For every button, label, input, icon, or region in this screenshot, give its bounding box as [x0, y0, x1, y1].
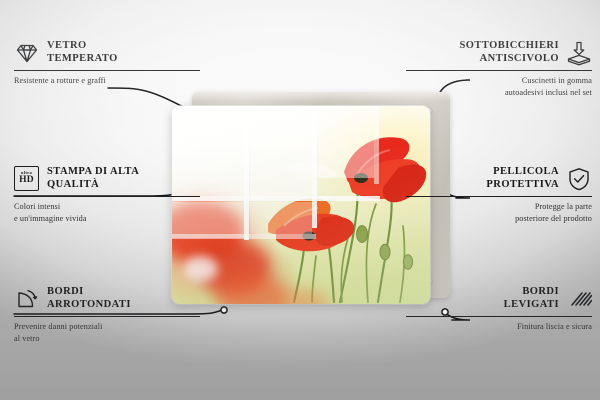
- glass-gloss: [172, 106, 430, 304]
- infographic-canvas: VETRO TEMPERATO Resistente a rotture e g…: [0, 0, 600, 400]
- anti-slip-pads-icon: [566, 40, 592, 66]
- ultra-hd-badge-icon: ultra HD: [14, 166, 40, 192]
- rounded-corner-icon: [14, 286, 40, 312]
- shield-check-icon: [566, 166, 592, 192]
- divider: [14, 70, 200, 71]
- feature-bordi-levigati: BORDI LEVIGATI Finitura liscia e sicura: [406, 286, 592, 333]
- feature-subtitle: Cuscinetti in gomma autoadesivi inclusi …: [406, 75, 592, 98]
- feature-subtitle: Finitura liscia e sicura: [406, 321, 592, 333]
- feature-sottobicchieri-antiscivolo: SOTTOBICCHIERI ANTISCIVOLO Cuscinetti in…: [406, 40, 592, 98]
- feature-vetro-temperato: VETRO TEMPERATO Resistente a rotture e g…: [14, 40, 200, 87]
- feature-title: BORDI ARROTONDATI: [47, 286, 131, 312]
- feature-bordi-arrotondati: BORDI ARROTONDATI Prevenire danni potenz…: [14, 286, 200, 344]
- divider: [406, 316, 592, 317]
- feature-title: PELLICOLA PROTETTIVA: [486, 166, 559, 192]
- divider: [406, 196, 592, 197]
- feature-title: STAMPA DI ALTA QUALITÀ: [47, 166, 139, 192]
- feature-title: BORDI LEVIGATI: [504, 286, 559, 312]
- feature-subtitle: Colori intensi e un'immagine vivida: [14, 201, 200, 224]
- feature-stampa-di-alta-qualita: ultra HD STAMPA DI ALTA QUALITÀ Colori i…: [14, 166, 200, 224]
- glass-sparkle: [177, 106, 203, 127]
- diamond-icon: [14, 40, 40, 66]
- feature-subtitle: Protegge la parte posteriore del prodott…: [406, 201, 592, 224]
- divider: [14, 196, 200, 197]
- feature-subtitle: Resistente a rotture e graffi: [14, 75, 200, 87]
- feature-pellicola-protettiva: PELLICOLA PROTETTIVA Protegge la parte p…: [406, 166, 592, 224]
- divider: [14, 316, 200, 317]
- polished-edges-icon: [566, 286, 592, 312]
- feature-subtitle: Prevenire danni potenziali al vetro: [14, 321, 200, 344]
- divider: [406, 70, 592, 71]
- feature-title: SOTTOBICCHIERI ANTISCIVOLO: [460, 40, 559, 66]
- feature-title: VETRO TEMPERATO: [47, 40, 118, 66]
- glass-panel: [172, 106, 430, 304]
